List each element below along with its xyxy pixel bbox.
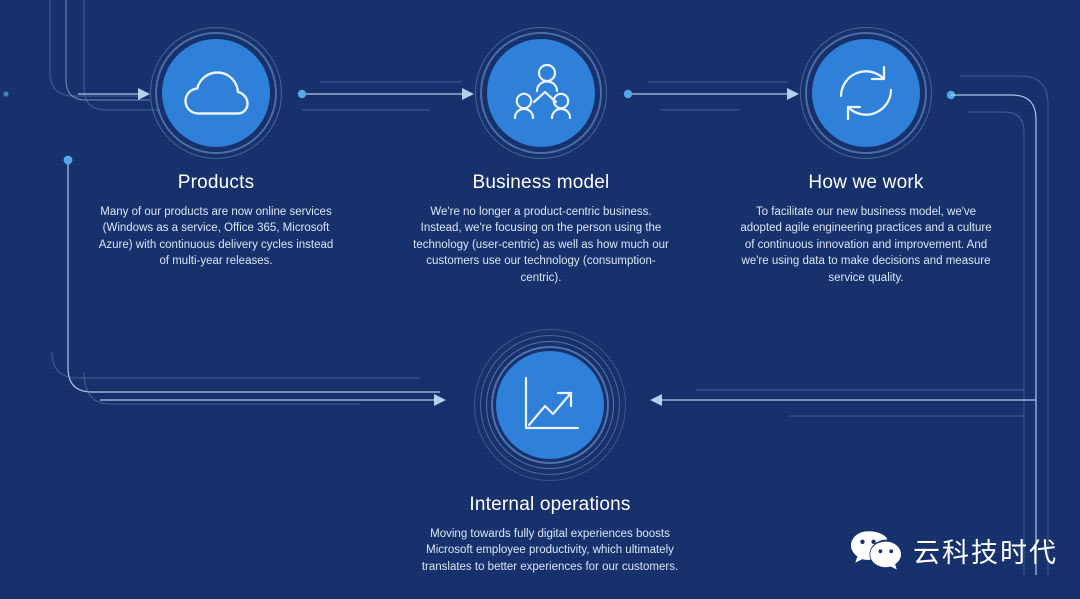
diagram-canvas: .ln{fill:none;stroke:#9fc0e8;stroke-widt…	[0, 0, 1080, 599]
node-how-we-work-disc[interactable]	[812, 39, 920, 147]
cloud-icon	[181, 67, 251, 119]
node-business-model-badge	[476, 28, 606, 158]
node-internal-operations-description: Moving towards fully digital experiences…	[416, 526, 684, 576]
watermark-text: 云科技时代	[913, 531, 1058, 570]
node-how-we-work-badge	[801, 28, 931, 158]
node-business-model-title: Business model	[410, 172, 672, 195]
node-business-model[interactable]: Business model We're no longer a product…	[410, 28, 672, 286]
node-internal-operations[interactable]: Internal operations Moving towards fully…	[410, 330, 690, 575]
node-how-we-work-description: To facilitate our new business model, we…	[735, 204, 997, 287]
node-products[interactable]: Products Many of our products are now on…	[86, 28, 346, 270]
people-org-icon	[506, 61, 576, 125]
wechat-logo-icon	[850, 529, 902, 571]
node-how-we-work-title: How we work	[735, 172, 997, 195]
refresh-sync-icon	[833, 60, 899, 126]
node-products-disc[interactable]	[162, 39, 270, 147]
node-internal-operations-badge	[475, 330, 625, 480]
node-products-description: Many of our products are now online serv…	[94, 204, 338, 270]
watermark: 云科技时代	[850, 529, 1058, 571]
node-business-model-description: We're no longer a product-centric busine…	[410, 204, 672, 287]
node-business-model-disc[interactable]	[487, 39, 595, 147]
growth-chart-icon	[518, 374, 582, 436]
node-products-title: Products	[86, 172, 346, 195]
node-how-we-work[interactable]: How we work To facilitate our new busine…	[735, 28, 997, 286]
node-internal-operations-disc[interactable]	[496, 351, 604, 459]
node-internal-operations-title: Internal operations	[410, 494, 690, 517]
node-products-badge	[151, 28, 281, 158]
